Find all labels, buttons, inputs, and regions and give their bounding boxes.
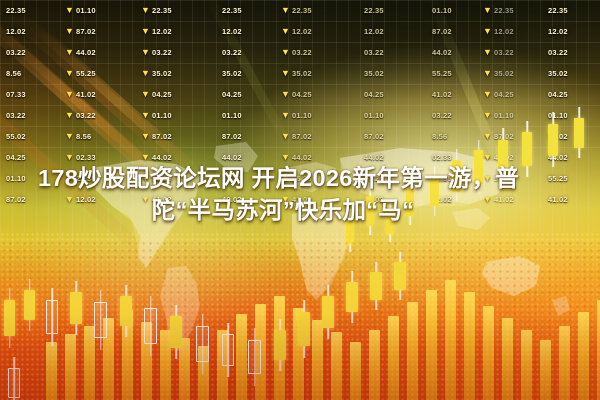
candle-body (222, 334, 234, 366)
candlestick (70, 281, 82, 335)
candle-body (8, 368, 20, 398)
candlestick (8, 357, 20, 400)
candlestick (144, 296, 157, 356)
candlestick (46, 288, 58, 346)
candle-body (4, 300, 15, 336)
candle-body (322, 296, 334, 328)
candle-body (46, 300, 58, 334)
candlestick (274, 319, 286, 371)
candle-body (370, 272, 382, 300)
market-banner-image: 22.3512.0203.228.5607.3303.2255.0204.250… (0, 0, 600, 400)
candlestick (370, 262, 382, 310)
candle-body (24, 290, 35, 320)
candlestick (222, 323, 234, 377)
candlestick (322, 285, 334, 339)
candle-body (144, 308, 157, 344)
candlestick (170, 305, 182, 359)
candlestick (94, 290, 107, 350)
candlestick (120, 285, 132, 337)
candle-body (94, 302, 107, 338)
candlestick (298, 300, 310, 358)
candle-body (170, 316, 182, 348)
candle-body (298, 312, 310, 346)
candlestick (248, 328, 261, 386)
candle-body (70, 292, 82, 324)
candle-body (196, 326, 209, 362)
candle-body (120, 296, 132, 326)
candlestick (196, 314, 209, 374)
candlestick (4, 288, 15, 348)
candle-body (274, 330, 286, 360)
candle-body (346, 282, 358, 312)
candlestick (346, 271, 358, 323)
candlestick (394, 252, 406, 300)
candlestick (24, 279, 35, 331)
headline-line-1: 178炒股配资论坛网 开启2026新年第一游，普 (16, 162, 584, 194)
headline-line-2: 陀“半马苏河”快乐加“马“ (16, 194, 584, 226)
headline-block: 178炒股配资论坛网 开启2026新年第一游，普 陀“半马苏河”快乐加“马“ (0, 162, 600, 226)
candle-body (394, 262, 406, 290)
candle-body (248, 340, 261, 374)
